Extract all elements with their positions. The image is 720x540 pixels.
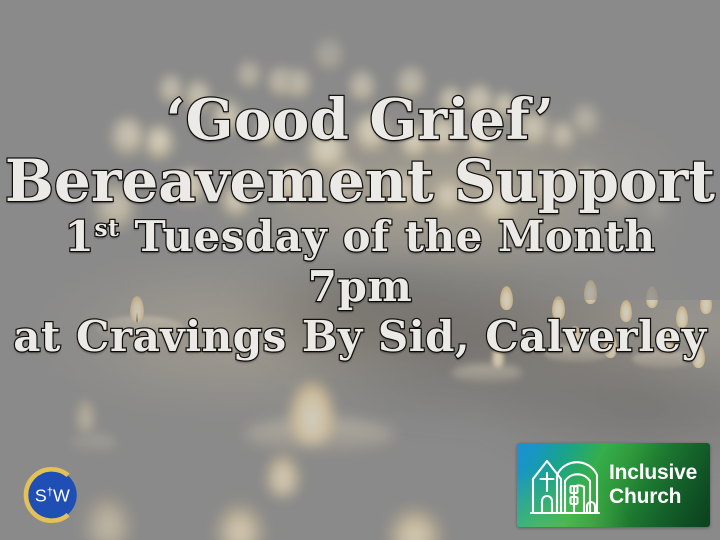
- inclusive-church-wordmark: Inclusive Church: [609, 461, 697, 510]
- schedule-number: 1: [65, 212, 95, 261]
- stw-logo-letters: S†W: [35, 486, 70, 506]
- time-line: 7pm: [0, 266, 720, 316]
- inclusive-church-badge[interactable]: Inclusive Church: [517, 443, 710, 527]
- schedule-ordinal: st: [94, 214, 119, 242]
- poster-canvas: ‘Good Grief’ Bereavement Support 1st Tue…: [0, 0, 720, 540]
- page-title: ‘Good Grief’: [0, 92, 720, 152]
- venue-line: at Cravings By Sid, Calverley: [0, 316, 720, 358]
- schedule-line: 1st Tuesday of the Month: [0, 216, 720, 266]
- inclusive-church-line1: Inclusive: [609, 461, 697, 485]
- subtitle: Bereavement Support: [0, 152, 720, 216]
- stw-logo[interactable]: S†W: [18, 462, 84, 528]
- inclusive-church-line2: Church: [609, 485, 697, 509]
- church-arches-icon: [527, 451, 603, 519]
- poster-text-block: ‘Good Grief’ Bereavement Support 1st Tue…: [0, 92, 720, 358]
- schedule-rest: Tuesday of the Month: [119, 212, 655, 261]
